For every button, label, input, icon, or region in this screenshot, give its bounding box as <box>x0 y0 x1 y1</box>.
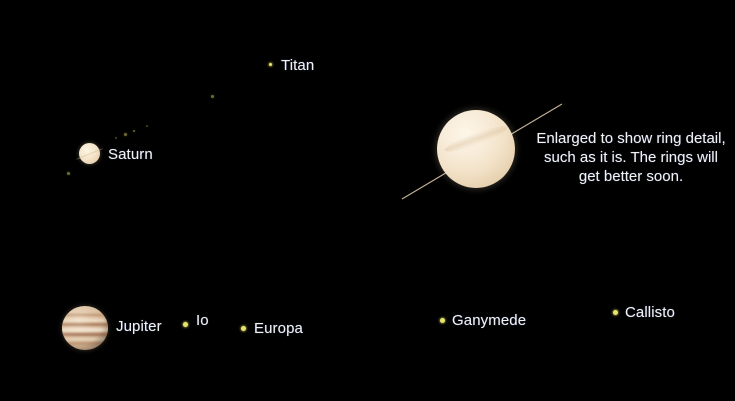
jupiter-shading <box>62 306 108 350</box>
label-europa[interactable]: Europa <box>254 321 303 336</box>
faint-star-point <box>124 133 127 136</box>
faint-star-point <box>67 172 70 175</box>
moon-marker-callisto[interactable] <box>613 310 618 315</box>
faint-star-point <box>115 137 117 139</box>
faint-star-point <box>133 130 135 132</box>
faint-star-point <box>146 125 148 127</box>
saturn-planet-disk[interactable] <box>79 143 100 164</box>
faint-star-point <box>211 95 214 98</box>
moon-marker-ganymede[interactable] <box>440 318 445 323</box>
moon-marker-io[interactable] <box>183 322 188 327</box>
label-saturn[interactable]: Saturn <box>108 147 153 162</box>
label-titan[interactable]: Titan <box>281 58 314 73</box>
enlarged-saturn-ring-icon <box>0 0 735 401</box>
sky-view: TitanSaturnJupiterIoEuropaGanymedeCallis… <box>0 0 735 401</box>
moon-marker-titan[interactable] <box>269 63 272 66</box>
moon-marker-europa[interactable] <box>241 326 246 331</box>
jupiter-planet-disk[interactable] <box>62 306 108 350</box>
label-ganymede[interactable]: Ganymede <box>452 313 526 328</box>
ring-detail-annotation: Enlarged to show ring detail, such as it… <box>534 129 728 186</box>
enlarged-saturn-disk[interactable] <box>437 110 515 188</box>
label-jupiter[interactable]: Jupiter <box>116 319 162 334</box>
saturn-ring-icon <box>75 147 104 160</box>
label-io[interactable]: Io <box>196 313 209 328</box>
label-callisto[interactable]: Callisto <box>625 305 675 320</box>
